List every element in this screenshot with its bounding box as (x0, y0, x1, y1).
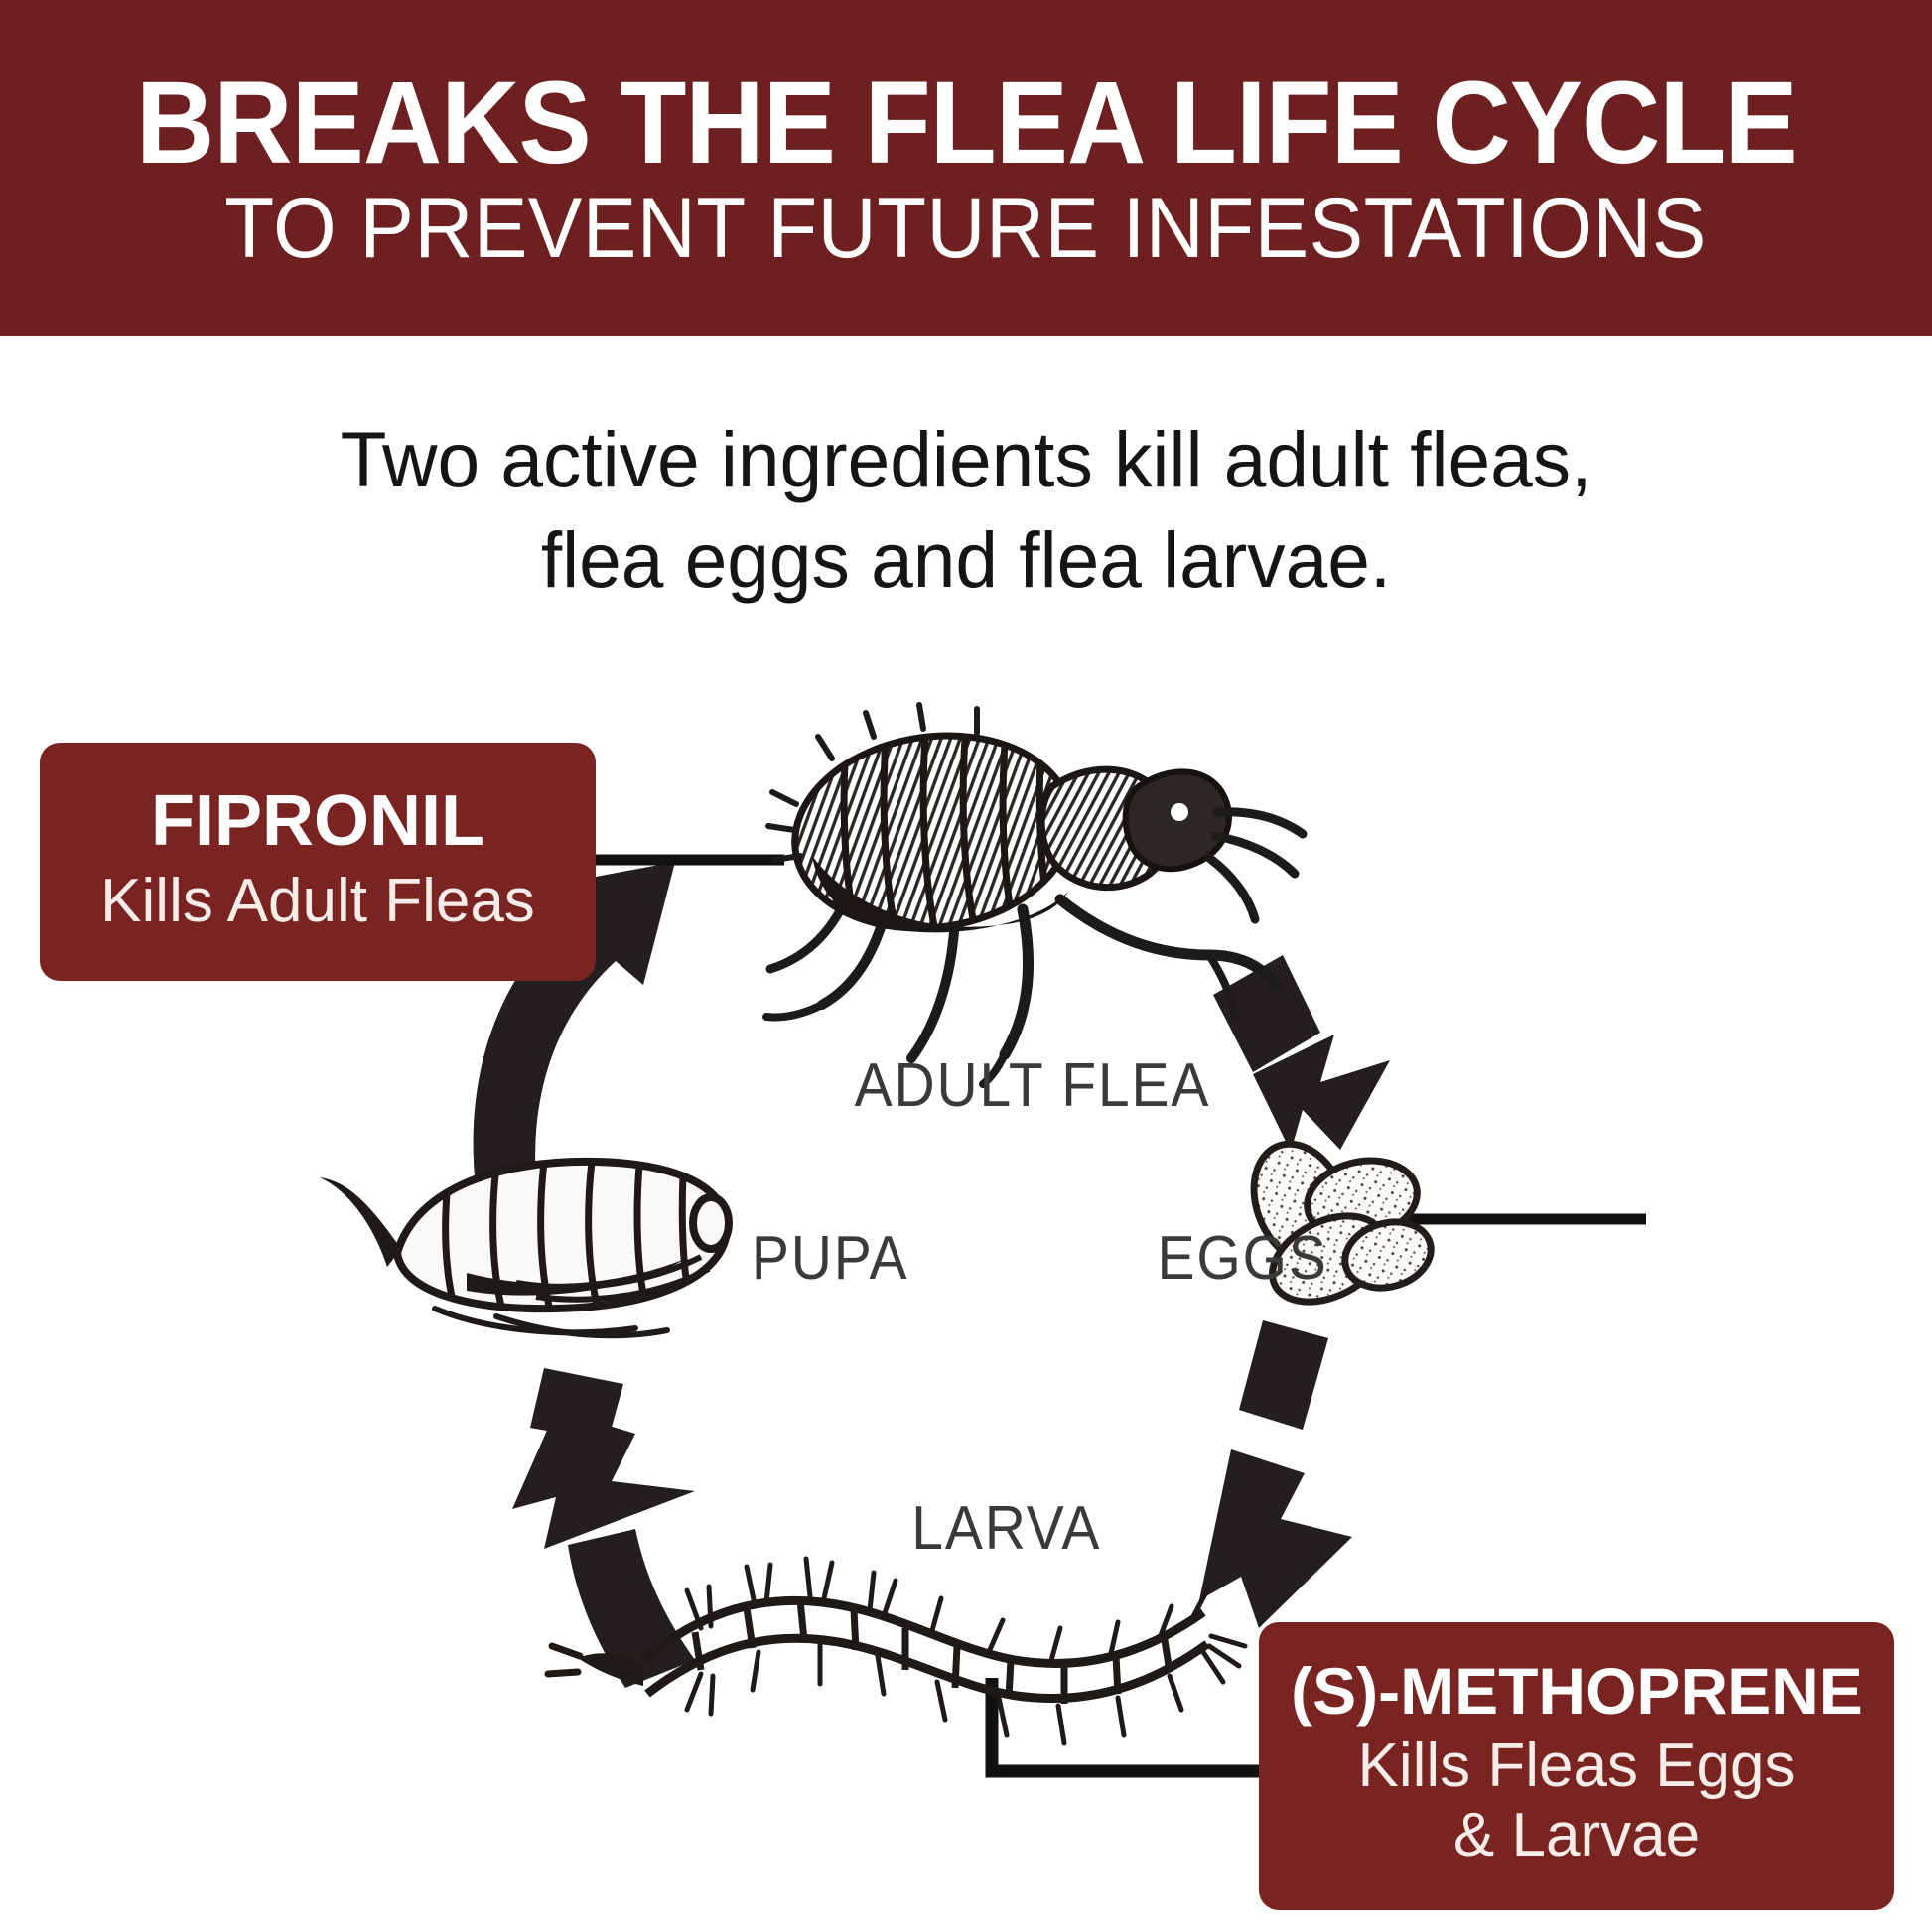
intro-line-2: flea eggs and flea larvae. (29, 509, 1903, 610)
callout-fipronil-title: FIPRONIL (151, 784, 484, 860)
pupa-illustration (320, 1162, 729, 1335)
callout-fipronil-subtitle: Kills Adult Fleas (100, 868, 535, 935)
larva-illustration (548, 1559, 1245, 1743)
header-banner: BREAKS THE FLEA LIFE CYCLE TO PREVENT FU… (0, 0, 1932, 336)
callout-methoprene-subtitle: Kills Fleas Eggs & Larvae (1357, 1731, 1795, 1869)
intro-line-1: Two active ingredients kill adult fleas, (29, 409, 1903, 509)
arrow-adult-to-eggs (1213, 955, 1390, 1152)
connector-larva (992, 1678, 1271, 1771)
callout-methoprene-subtitle-line-2: & Larvae (1357, 1801, 1795, 1869)
page-title: BREAKS THE FLEA LIFE CYCLE (136, 65, 1797, 182)
infographic-page: BREAKS THE FLEA LIFE CYCLE TO PREVENT FU… (0, 0, 1932, 1932)
stage-label-larva: LARVA (911, 1493, 1101, 1564)
adult-flea-illustration (766, 705, 1303, 1084)
callout-methoprene-title: (S)-METHOPRENE (1291, 1657, 1863, 1725)
callout-fipronil: FIPRONIL Kills Adult Fleas (40, 743, 596, 981)
intro-paragraph: Two active ingredients kill adult fleas,… (29, 409, 1903, 610)
stage-label-pupa: PUPA (752, 1223, 908, 1294)
stage-label-adult-flea: ADULT FLEA (855, 1050, 1211, 1121)
callout-methoprene-subtitle-line-1: Kills Fleas Eggs (1357, 1731, 1795, 1800)
arrow-eggs-to-larva (1199, 1320, 1352, 1628)
stage-label-eggs: EGGS (1157, 1223, 1327, 1294)
arrow-larva-to-pupa (512, 1368, 695, 1688)
page-subtitle: TO PREVENT FUTURE INFESTATIONS (225, 186, 1708, 271)
callout-methoprene: (S)-METHOPRENE Kills Fleas Eggs & Larvae (1259, 1622, 1894, 1910)
